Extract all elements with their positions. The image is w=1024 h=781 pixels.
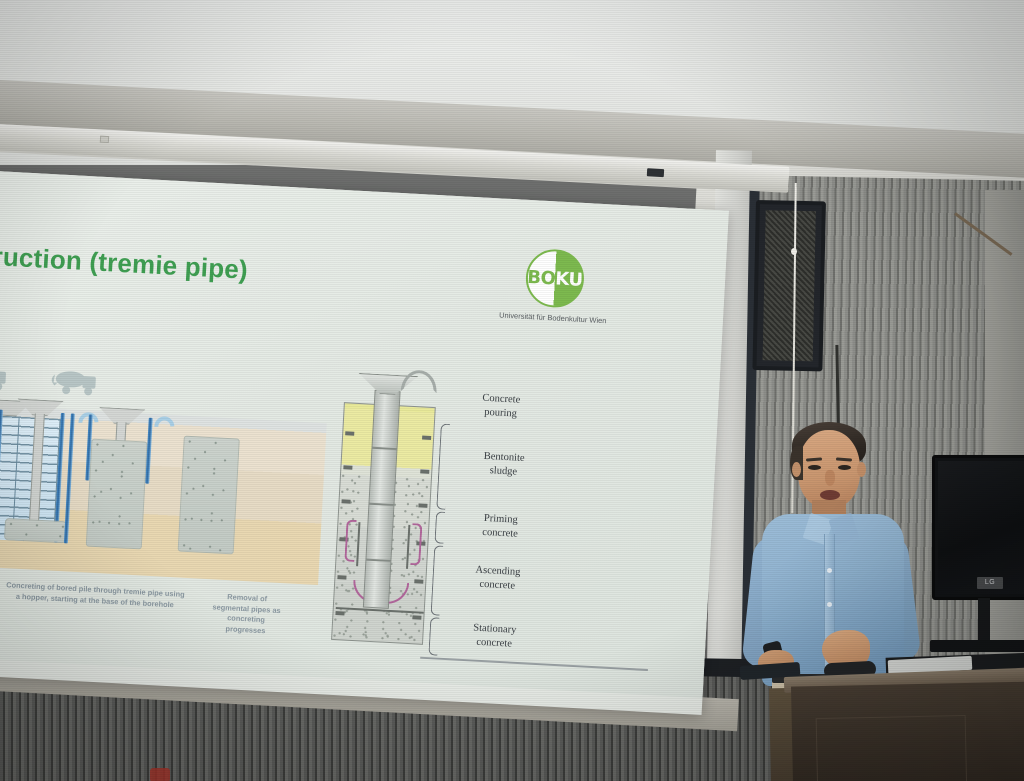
monitor-logo: LG [977, 577, 1003, 589]
casing-segment [414, 579, 423, 583]
stage-captions: tion of m wall / pile, ng any piping Ins… [0, 571, 317, 657]
casing-segment [345, 431, 354, 435]
eye-right [838, 465, 851, 470]
concrete-mixer-truck-icon [0, 363, 9, 392]
brace-ascending [431, 545, 444, 615]
casing-segment [418, 503, 427, 507]
nose [825, 470, 835, 486]
cross-section-labels: Concrete pouring Bentonite sludge Primin… [457, 390, 667, 401]
casing-segment [412, 615, 421, 619]
concrete-mixer-truck-icon [44, 368, 99, 397]
housing-sensor [647, 168, 664, 177]
ear-left [792, 462, 801, 477]
boku-logo: BOKU Universität für Bodenkultur Wien [493, 246, 617, 325]
pouring-arrow-icon [401, 369, 438, 393]
lectern [836, 672, 1024, 781]
boku-logo-caption: Universität für Bodenkultur Wien [493, 310, 613, 325]
lecture-hall-photo: LG pile construction (tremie pipe) g of … [0, 0, 1024, 781]
stage-caption: Removal of segmental pipes as concreting… [193, 590, 299, 638]
label-bentonite-sludge: Bentonite sludge [458, 449, 549, 482]
stage-caption: Concreting of bored pile through tremie … [0, 580, 194, 612]
shirt-button [827, 568, 832, 573]
projection-screen: pile construction (tremie pipe) g of bor… [0, 168, 729, 715]
boku-logo-ku: KU [555, 268, 583, 290]
casing-segment [341, 499, 350, 503]
boku-logo-letters: BOKU [527, 250, 584, 307]
slide-title: pile construction (tremie pipe) [0, 234, 249, 285]
label-concrete-pouring: Concrete pouring [455, 390, 546, 423]
monitor-stand-neck [978, 598, 990, 646]
casing-segment [337, 575, 346, 579]
lectern-panel [816, 715, 967, 781]
shirt-button [827, 602, 832, 607]
label-priming-concrete: Priming concrete [455, 510, 546, 543]
far-right-wall [985, 190, 1024, 710]
boku-logo-mark: BOKU [524, 248, 585, 309]
tremie-cross-section-figure: Concrete pouring Bentonite sludge Primin… [312, 369, 667, 677]
brace-priming [434, 511, 445, 543]
casing-segment [422, 435, 431, 439]
bored-pile-stages-figure: tion of m wall / pile, ng any piping Ins… [0, 359, 329, 585]
brace-stationary [428, 617, 439, 655]
figure-divider [420, 657, 648, 671]
wall-speaker [752, 200, 826, 371]
speaker-grille [763, 210, 816, 361]
mouth [820, 490, 840, 500]
brace-bentonite [436, 423, 450, 509]
eye-left [808, 465, 821, 470]
pipe-joint [369, 503, 393, 506]
casing-segment [335, 611, 344, 615]
lectern-front [791, 681, 1024, 781]
pipe-joint [372, 447, 396, 450]
casing-segment [343, 465, 352, 469]
label-stationary-concrete: Stationary concrete [449, 620, 540, 653]
red-object [150, 768, 170, 781]
finished-pile [86, 439, 148, 550]
completed-pile [178, 436, 240, 555]
boku-logo-bo: BO [527, 266, 556, 288]
casing-segment [420, 469, 429, 473]
label-ascending-concrete: Ascending concrete [452, 562, 543, 595]
screen-surface: pile construction (tremie pipe) g of bor… [0, 168, 729, 698]
cord-knot [791, 248, 797, 255]
concrete-plug [4, 518, 67, 543]
pipe-joint [366, 559, 390, 562]
slide: pile construction (tremie pipe) g of bor… [0, 168, 729, 698]
housing-mount [100, 136, 109, 143]
ear-right [857, 462, 866, 477]
